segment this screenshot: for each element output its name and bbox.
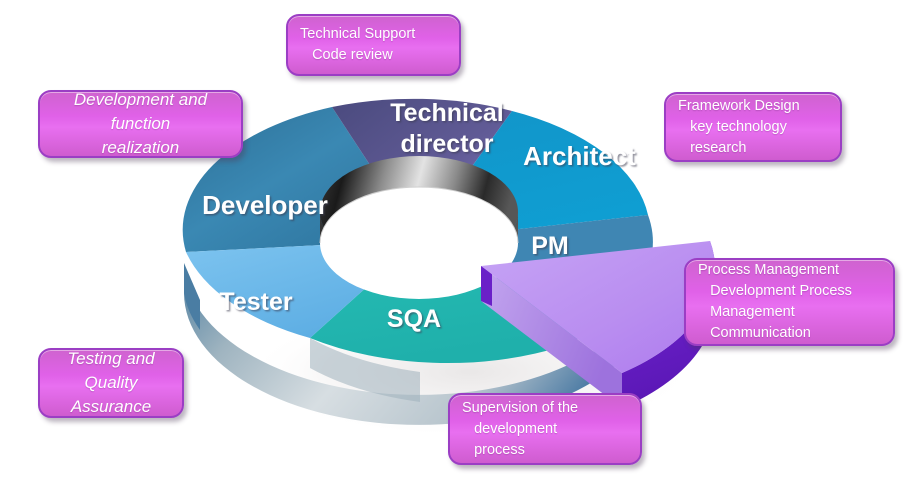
diagram-canvas: Technical director Architect PM SQA Test… bbox=[0, 0, 914, 493]
callout-line: Development Process bbox=[698, 281, 881, 302]
callout-line: realization bbox=[52, 136, 229, 160]
callout-supervision-of-development-process[interactable]: Supervision of the development process bbox=[448, 393, 642, 465]
callout-line: Code review bbox=[300, 45, 447, 66]
callout-development-and-function-realization[interactable]: Development and function realization bbox=[38, 90, 243, 158]
callout-line: development bbox=[462, 419, 628, 440]
callout-framework-design[interactable]: Framework Design key technology research bbox=[664, 92, 842, 162]
callout-testing-and-quality-assurance[interactable]: Testing and Quality Assurance bbox=[38, 348, 184, 418]
callout-line: process bbox=[462, 440, 628, 461]
callout-process-management[interactable]: Process Management Development Process M… bbox=[684, 258, 895, 346]
callout-line: Development and bbox=[52, 88, 229, 112]
callout-line: Supervision of the bbox=[462, 398, 628, 419]
callout-line: research bbox=[678, 138, 828, 159]
callout-line: function bbox=[52, 112, 229, 136]
callout-line: Management bbox=[698, 302, 881, 323]
callout-line: Communication bbox=[698, 323, 881, 344]
callout-line: key technology bbox=[678, 117, 828, 138]
callout-line: Quality bbox=[52, 371, 170, 395]
callout-line: Testing and bbox=[52, 347, 170, 371]
callout-technical-support[interactable]: Technical Support Code review bbox=[286, 14, 461, 76]
callout-line: Process Management bbox=[698, 260, 881, 281]
callout-line: Framework Design bbox=[678, 96, 828, 117]
callout-line: Technical Support bbox=[300, 24, 447, 45]
callout-line: Assurance bbox=[52, 395, 170, 419]
